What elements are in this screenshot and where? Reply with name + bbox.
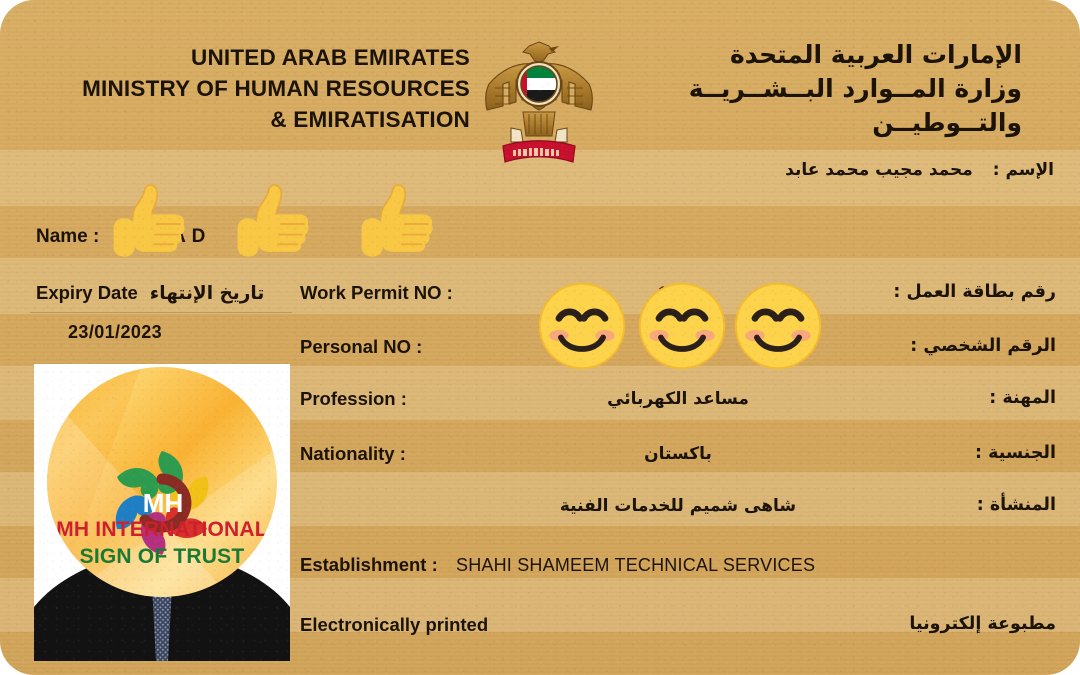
uae-falcon-emblem-icon xyxy=(481,36,597,172)
expiry-label-ar: تاريخ الإنتهاء xyxy=(150,283,265,304)
logo-text-line2: SIGN OF TRUST xyxy=(47,545,277,569)
row-nationality: Nationality : باكستان الجنسية : xyxy=(300,443,1056,473)
smiling-face-emoji xyxy=(634,278,730,374)
title-ar-line-ministry: وزارة المــوارد البــشــريــة xyxy=(592,72,1022,106)
title-ar-line-emiratisation: والتــوطيــن xyxy=(592,106,1022,140)
profession-label-ar: المهنة : xyxy=(989,388,1056,408)
ministry-title-english: UNITED ARAB EMIRATES MINISTRY OF HUMAN R… xyxy=(60,42,470,135)
nationality-value: باكستان xyxy=(300,444,1056,464)
thumbs-up-emoji xyxy=(228,176,324,272)
mh-international-logo: MH MH INTERNATIONAL SIGN OF TRUST xyxy=(47,367,277,597)
name-label: Name : xyxy=(36,226,99,247)
title-ar-line-country: الإمارات العربية المتحدة xyxy=(592,38,1022,72)
photo-block: MH MH INTERNATIONAL SIGN OF TRUST xyxy=(34,364,290,661)
expiry-divider xyxy=(30,312,292,313)
mh-monogram: MH xyxy=(143,488,183,518)
work-permit-card: UNITED ARAB EMIRATES MINISTRY OF HUMAN R… xyxy=(0,0,1080,675)
title-line-country: UNITED ARAB EMIRATES xyxy=(60,42,470,73)
arabic-name-label: الإسم : xyxy=(993,160,1054,180)
row-electronically-printed: Electronically printed مطبوعة إلكترونيا xyxy=(300,614,1056,644)
ministry-title-arabic: الإمارات العربية المتحدة وزارة المــوارد… xyxy=(592,38,1022,140)
thumbs-up-emoji xyxy=(352,176,448,272)
electronically-printed-en: Electronically printed xyxy=(300,614,488,636)
card-header: UNITED ARAB EMIRATES MINISTRY OF HUMAN R… xyxy=(0,18,1080,148)
row-establishment-english: Establishment : SHAHI SHAMEEM TECHNICAL … xyxy=(300,554,1056,584)
work-permit-no-label-ar: رقم بطاقة العمل : xyxy=(893,282,1056,302)
row-profession: Profession : مساعد الكهربائي المهنة : xyxy=(300,388,1056,418)
expiry-date-label: Expiry Dateتاريخ الإنتهاء xyxy=(36,282,264,304)
expiry-date-value: 23/01/2023 xyxy=(68,322,162,343)
logo-text-line1: MH INTERNATIONAL xyxy=(47,518,277,542)
personal-no-label-ar: الرقم الشخصي : xyxy=(910,336,1056,356)
row-establishment-arabic: شاهى شميم للخدمات الفنية المنشأة : xyxy=(300,495,1056,525)
title-line-emiratisation: & EMIRATISATION xyxy=(60,104,470,135)
nationality-label-ar: الجنسية : xyxy=(975,443,1056,463)
establishment-value-en: SHAHI SHAMEEM TECHNICAL SERVICES xyxy=(456,555,815,576)
arabic-name-value: محمد مجيب محمد عابد xyxy=(785,160,973,180)
establishment-label-en: Establishment : xyxy=(300,554,438,576)
expiry-label-en: Expiry Date xyxy=(36,282,138,303)
arabic-name-row: الإسم : محمد مجيب محمد عابد xyxy=(785,160,1054,180)
establishment-value-ar: شاهى شميم للخدمات الفنية xyxy=(300,496,1056,516)
title-line-ministry: MINISTRY OF HUMAN RESOURCES xyxy=(60,73,470,104)
electronically-printed-ar: مطبوعة إلكترونيا xyxy=(909,614,1056,634)
establishment-label-ar: المنشأة : xyxy=(977,495,1056,515)
thumbs-up-emoji xyxy=(104,176,200,272)
profession-value: مساعد الكهربائي xyxy=(300,389,1056,409)
smiling-face-emoji xyxy=(534,278,630,374)
smiling-face-emoji xyxy=(730,278,826,374)
